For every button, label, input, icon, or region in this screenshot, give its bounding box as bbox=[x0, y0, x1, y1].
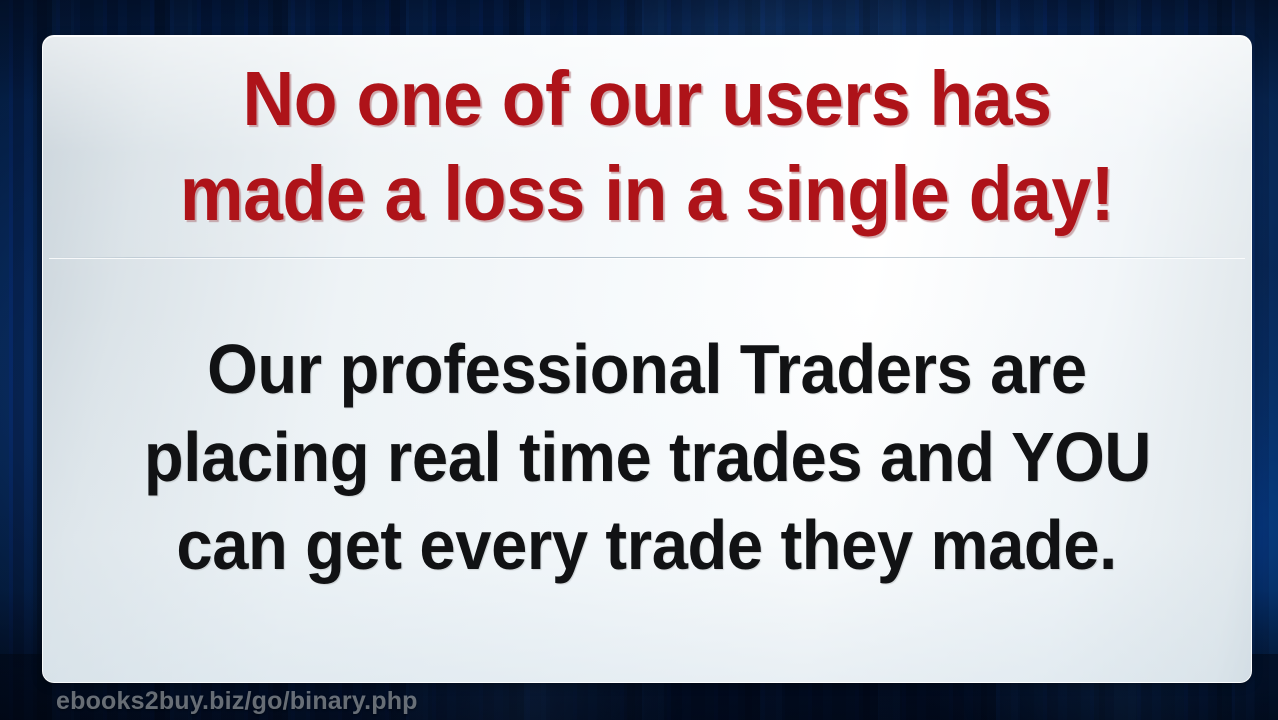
headline-line-2: made a loss in a single day! bbox=[102, 147, 1192, 242]
headline-line-1: No one of our users has bbox=[102, 52, 1192, 147]
body-line-3: can get every trade they made. bbox=[177, 501, 1117, 589]
content-card: No one of our users has made a loss in a… bbox=[42, 35, 1252, 683]
body-line-2: placing real time trades and YOU bbox=[143, 413, 1150, 501]
card-inner: No one of our users has made a loss in a… bbox=[43, 36, 1251, 682]
url-watermark: ebooks2buy.biz/go/binary.php bbox=[56, 687, 418, 716]
promo-slide: ebooks2buy.biz/go/binary.php No one of o… bbox=[0, 0, 1278, 720]
body-line-1: Our professional Traders are bbox=[207, 325, 1087, 413]
body-block: Our professional Traders are placing rea… bbox=[43, 258, 1251, 682]
headline-block: No one of our users has made a loss in a… bbox=[43, 36, 1251, 241]
